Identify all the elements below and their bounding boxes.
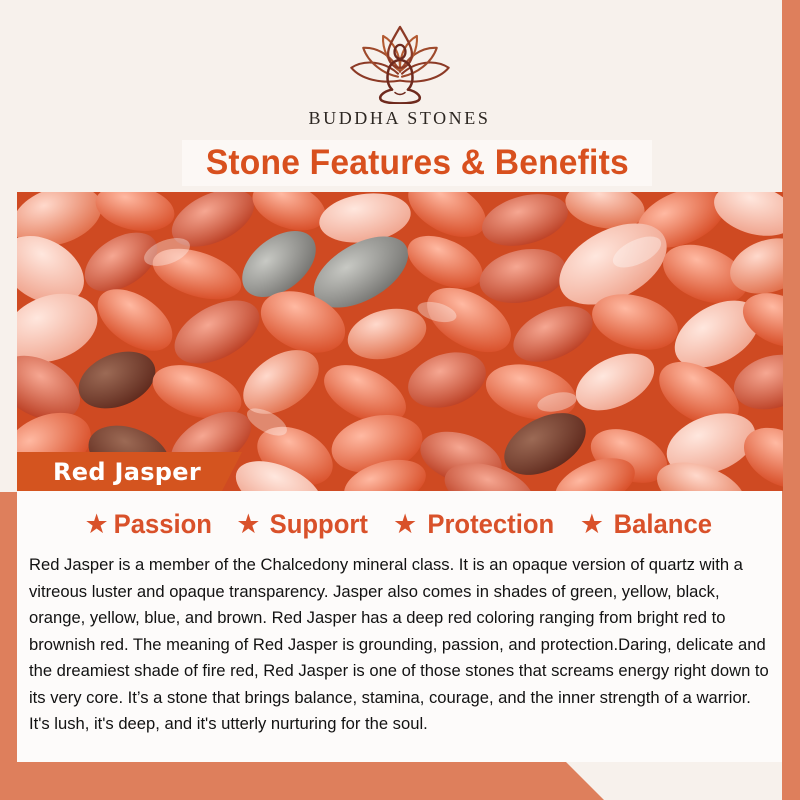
brand-logo: BUDDHA STONES: [17, 22, 782, 129]
benefit-label: Balance: [614, 509, 712, 540]
star-icon: ★: [393, 511, 417, 538]
star-icon: ★: [580, 511, 604, 538]
left-decorative-band: [0, 492, 17, 767]
benefit-label: Support: [270, 509, 368, 540]
stone-name-label: Red Jasper: [53, 458, 201, 486]
benefit-balance: ★ Balance: [580, 509, 715, 540]
brand-name: BUDDHA STONES: [309, 108, 491, 129]
stone-photo: [17, 192, 783, 491]
star-icon: ★: [236, 511, 260, 538]
benefit-support: ★ Support: [236, 509, 371, 540]
benefit-passion: ★ Passion: [85, 509, 215, 540]
title-plate: Stone Features & Benefits: [182, 140, 652, 186]
header-section: BUDDHA STONES Stone Features & Benefits: [17, 0, 782, 195]
benefit-label: Passion: [113, 509, 211, 540]
bottom-decorative-band: [0, 762, 800, 800]
benefit-protection: ★ Protection: [393, 509, 558, 540]
benefits-row: ★ Passion ★ Support ★ Protection ★ Balan…: [17, 491, 782, 540]
right-decorative-band: [782, 0, 800, 800]
content-section: ★ Passion ★ Support ★ Protection ★ Balan…: [17, 491, 782, 762]
star-icon: ★: [85, 511, 109, 538]
stone-name-banner: Red Jasper: [17, 452, 242, 491]
lotus-meditation-icon: [325, 22, 475, 104]
page-title: Stone Features & Benefits: [205, 143, 628, 183]
description-text: Red Jasper is a member of the Chalcedony…: [29, 552, 771, 738]
benefit-label: Protection: [428, 509, 555, 540]
infographic-page: BUDDHA STONES Stone Features & Benefits: [0, 0, 800, 800]
stone-photo-graphic: [17, 192, 783, 491]
